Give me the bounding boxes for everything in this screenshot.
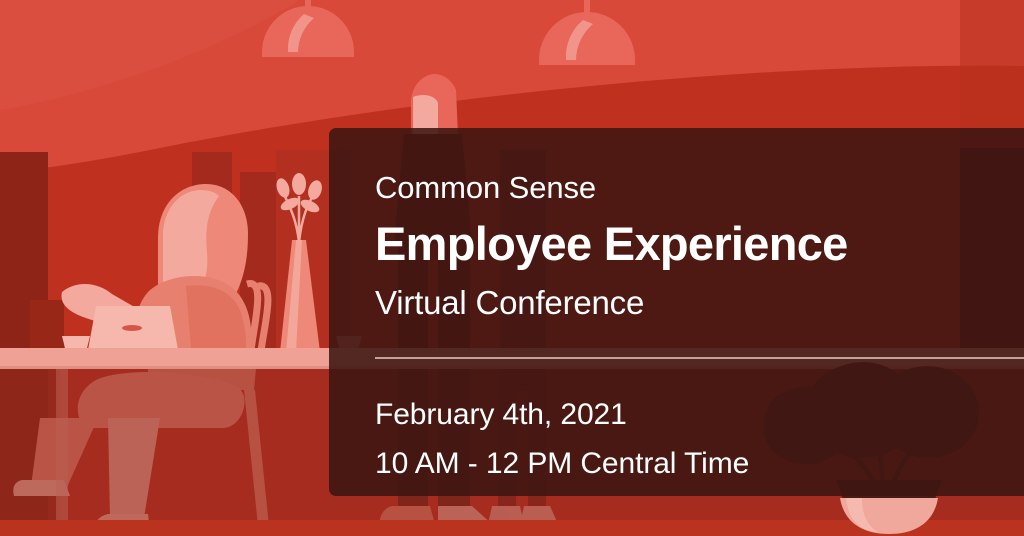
event-title: Employee Experience xyxy=(375,220,1024,267)
flower-bud-2 xyxy=(292,173,306,195)
event-banner: Common Sense Employee Experience Virtual… xyxy=(0,0,1024,536)
event-eyebrow: Common Sense xyxy=(375,172,1024,203)
event-subtitle: Virtual Conference xyxy=(375,286,1024,319)
right-wall-shade xyxy=(960,0,1024,148)
event-info-panel: Common Sense Employee Experience Virtual… xyxy=(329,128,1024,496)
event-date: February 4th, 2021 xyxy=(375,400,749,430)
event-time: 10 AM - 12 PM Central Time xyxy=(375,449,749,479)
laptop-logo xyxy=(122,325,142,331)
event-datetime-block: February 4th, 2021 10 AM - 12 PM Central… xyxy=(375,400,749,479)
panel-divider xyxy=(375,357,1024,359)
